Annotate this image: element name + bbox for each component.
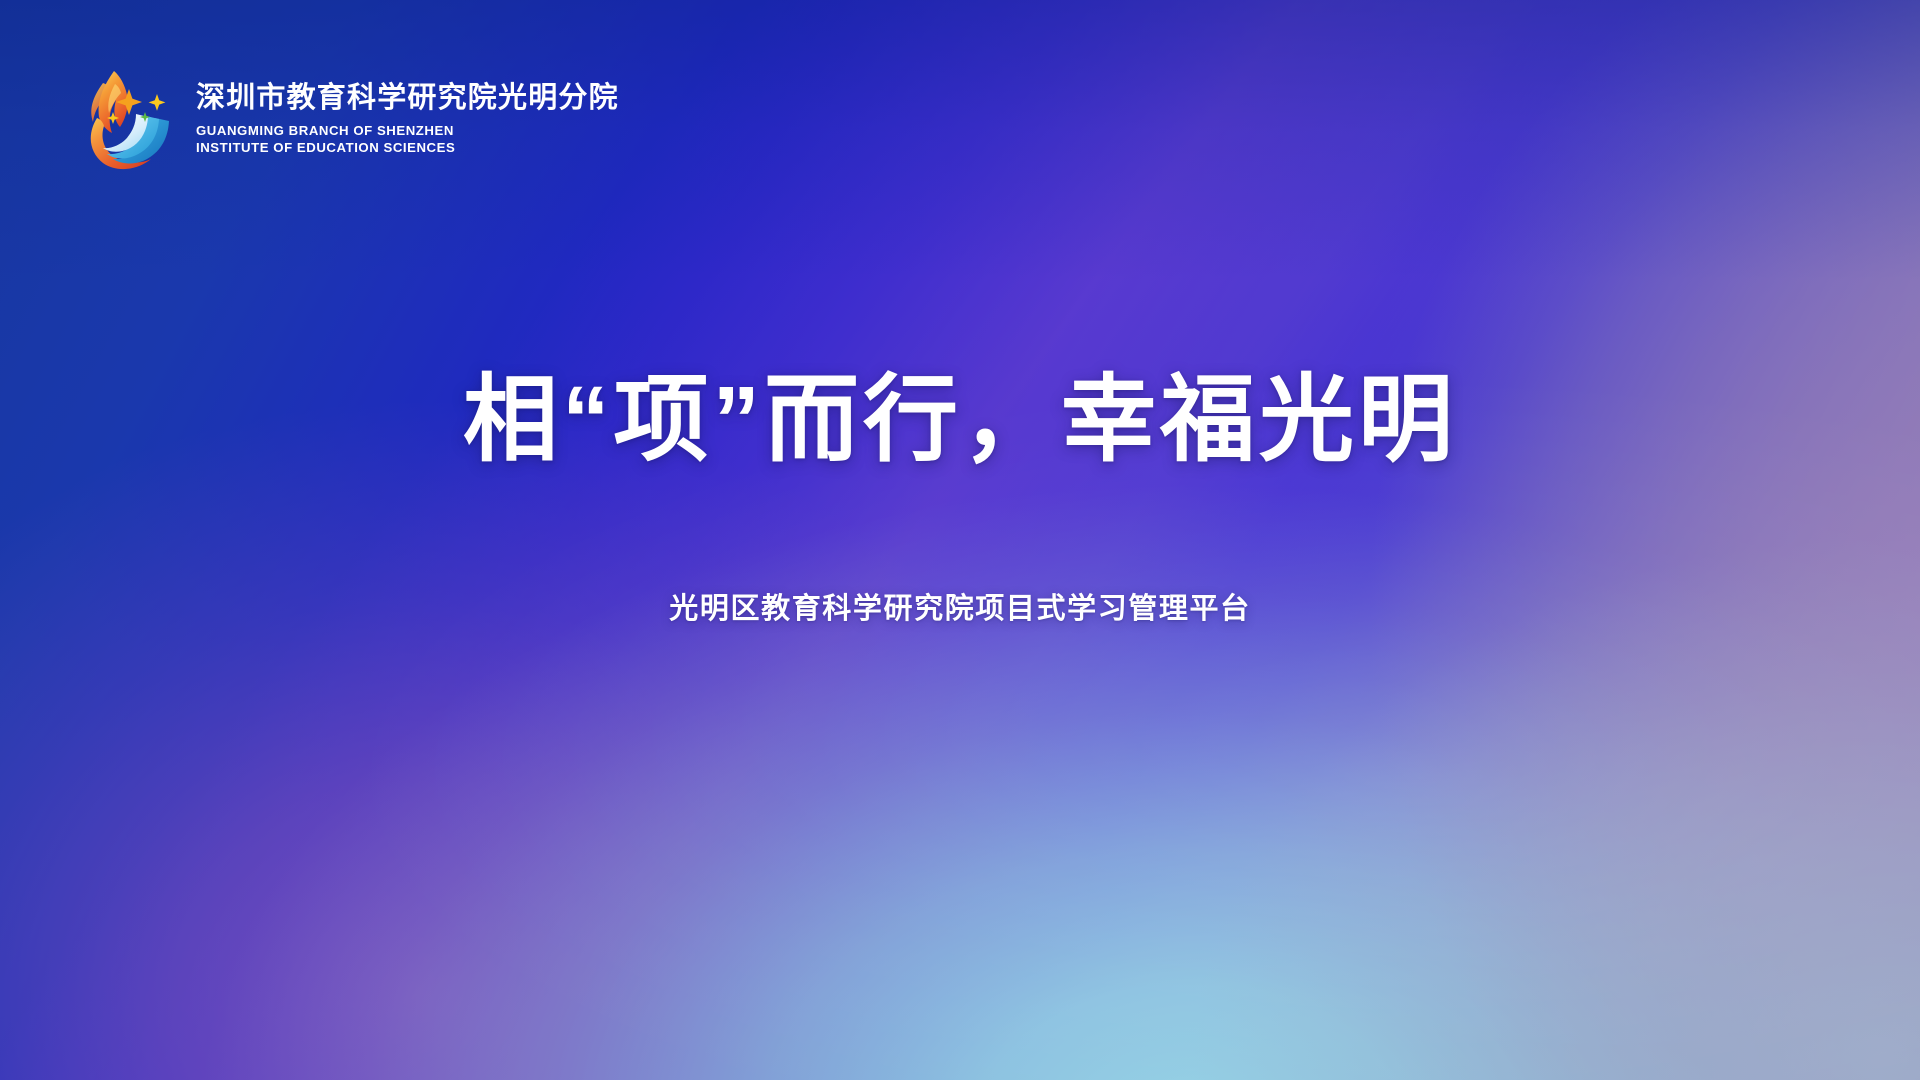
page-title: 相“项”而行，幸福光明 <box>463 364 1457 476</box>
flame-and-book-emblem <box>56 60 174 176</box>
landing-page: 深圳市教育科学研究院光明分院 GUANGMING BRANCH OF SHENZ… <box>0 0 1920 1080</box>
brand-header: 深圳市教育科学研究院光明分院 GUANGMING BRANCH OF SHENZ… <box>56 60 619 176</box>
org-name-chinese: 深圳市教育科学研究院光明分院 <box>196 83 619 115</box>
page-subtitle: 光明区教育科学研究院项目式学习管理平台 <box>669 585 1250 627</box>
org-name-english: GUANGMING BRANCH OF SHENZHEN INSTITUTE O… <box>196 122 526 157</box>
star-medium <box>149 94 166 111</box>
hero-section: 相“项”而行，幸福光明 光明区教育科学研究院项目式学习管理平台 <box>0 300 1920 627</box>
brand-wordmark: 深圳市教育科学研究院光明分院 GUANGMING BRANCH OF SHENZ… <box>196 79 619 157</box>
